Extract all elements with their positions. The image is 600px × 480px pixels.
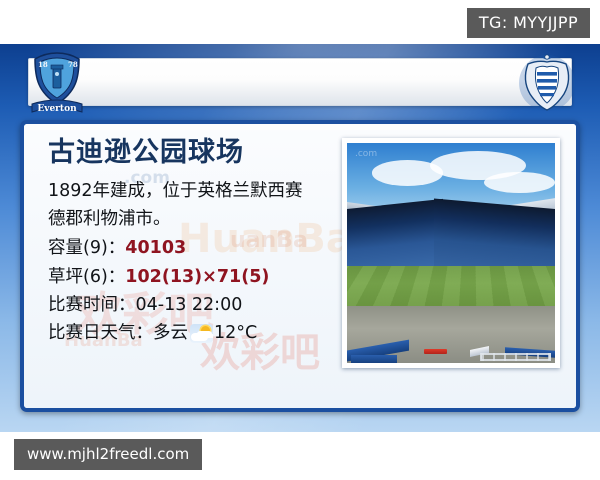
svg-text:Everton: Everton bbox=[37, 104, 77, 114]
capacity-row: 容量(9)：40103 bbox=[48, 234, 328, 262]
match-time-label: 比赛时间： bbox=[48, 295, 136, 315]
pitch-size-value: 102(13)×71(5) bbox=[125, 267, 269, 287]
match-time-row: 比赛时间：04-13 22:00 bbox=[48, 291, 328, 319]
match-info-card: 埃弗顿 女王公园 足球魔方 18 78 Everton bbox=[0, 44, 600, 432]
svg-text:78: 78 bbox=[68, 60, 78, 69]
team-header-bar bbox=[28, 58, 572, 106]
partly-cloudy-icon bbox=[190, 324, 213, 343]
match-time-value: 04-13 22:00 bbox=[136, 295, 243, 315]
red-equipment-box bbox=[424, 349, 447, 354]
cloud-shape bbox=[191, 333, 208, 341]
capacity-label: 容量(9)： bbox=[48, 238, 125, 258]
weather-label: 比赛日天气： bbox=[48, 319, 153, 347]
site-url-watermark: www.mjhl2freedl.com bbox=[14, 439, 202, 470]
stadium-info-panel: 欢彩吧 HuanBa 欢彩吧 .com .com uanBa HuanBa 古迪… bbox=[20, 120, 580, 412]
stadium-details: 古迪逊公园球场 1892年建成，位于英格兰默西赛德郡利物浦市。 容量(9)：40… bbox=[48, 138, 328, 348]
stadium-description: 1892年建成，位于英格兰默西赛德郡利物浦市。 bbox=[48, 177, 316, 234]
top-white-strip: TG: MYYJJPP bbox=[0, 0, 600, 44]
weather-condition: 多云 bbox=[153, 319, 188, 347]
pitch-size-row: 草坪(6)：102(13)×71(5) bbox=[48, 263, 328, 291]
qpr-crest bbox=[516, 50, 578, 116]
pitch-size-label: 草坪(6)： bbox=[48, 267, 125, 287]
telegram-watermark-badge: TG: MYYJJPP bbox=[467, 8, 590, 38]
blue-barrier bbox=[351, 355, 397, 363]
everton-crest: 18 78 Everton bbox=[26, 50, 88, 116]
photo-watermark: .com bbox=[355, 149, 377, 159]
stadium-photo-frame: .com bbox=[342, 138, 560, 368]
cloud-shape bbox=[484, 172, 555, 193]
panel-background: 欢彩吧 HuanBa 欢彩吧 .com .com uanBa HuanBa 古迪… bbox=[24, 124, 576, 408]
metal-railing bbox=[480, 353, 551, 360]
weather-temperature: 12°C bbox=[214, 319, 257, 347]
goodison-park-stadium-photo: .com bbox=[347, 143, 555, 363]
foreground-terrace bbox=[347, 306, 555, 363]
weather-row: 比赛日天气：多云 12°C bbox=[48, 319, 328, 347]
svg-text:18: 18 bbox=[38, 60, 48, 69]
bottom-white-strip: www.mjhl2freedl.com bbox=[0, 432, 600, 480]
stadium-title: 古迪逊公园球场 bbox=[48, 138, 328, 168]
capacity-value: 40103 bbox=[125, 238, 186, 258]
